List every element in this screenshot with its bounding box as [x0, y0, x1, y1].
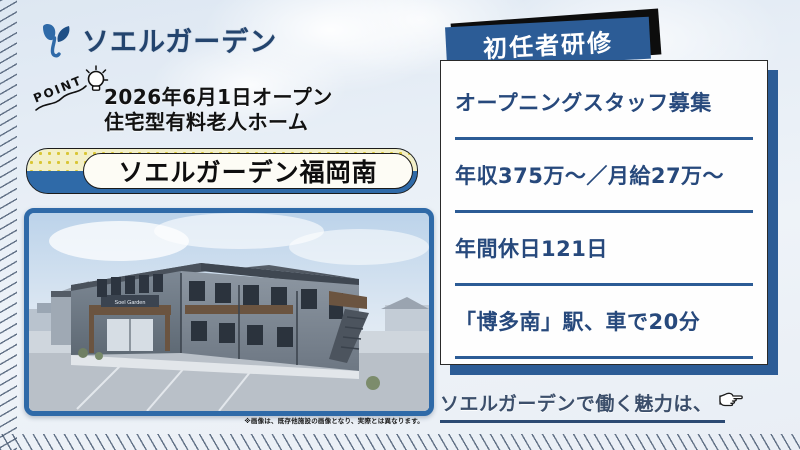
info-row-text: 年間休日121日 — [455, 233, 608, 263]
opening-headline: 2026年6月1日オープン 住宅型有料老人ホーム — [104, 85, 404, 135]
tagline-underline — [440, 420, 725, 423]
pill-inner-panel: ソエルガーデン福岡南 — [83, 153, 413, 189]
job-info-card: オープニングスタッフ募集 年収375万～／月給27万～ 年間休日121日 「博多… — [440, 60, 768, 365]
facility-name: ソエルガーデン福岡南 — [118, 153, 377, 189]
info-row-text: 年収375万～／月給27万～ — [455, 160, 724, 190]
hatch-left-border — [0, 0, 17, 450]
info-row-salary: 年収375万～／月給27万～ — [455, 140, 753, 213]
qualification-badge-label: 初任者研修 — [482, 22, 614, 64]
advertisement-canvas: ソエルガーデン POINT 2026年6月1日オープン 住宅型有料老人ホーム ソ… — [0, 0, 800, 450]
bottom-tagline: ソエルガーデンで働く魅力は、 — [440, 388, 770, 423]
headline-line-2: 住宅型有料老人ホーム — [104, 110, 404, 135]
sprout-leaf-icon — [38, 21, 74, 59]
info-row-text: 「博多南」駅、車で20分 — [455, 306, 700, 336]
info-row-staff: オープニングスタッフ募集 — [455, 67, 753, 140]
photo-disclaimer-caption: ※画像は、既存他施設の画像となり、実際とは異なります。 — [24, 415, 424, 425]
brand-logo: ソエルガーデン — [38, 20, 277, 59]
info-row-access: 「博多南」駅、車で20分 — [455, 286, 753, 359]
svg-text:Soel Garden: Soel Garden — [115, 300, 146, 306]
facility-name-pill: ソエルガーデン福岡南 — [26, 148, 418, 194]
hatch-bottom-border — [0, 434, 800, 450]
facility-exterior-photo: Soel Garden — [24, 208, 434, 416]
headline-line-1: 2026年6月1日オープン — [104, 85, 404, 110]
pointing-hand-right-icon — [716, 388, 746, 417]
brand-name: ソエルガーデン — [82, 20, 277, 59]
info-row-text: オープニングスタッフ募集 — [455, 87, 712, 117]
info-row-holidays: 年間休日121日 — [455, 213, 753, 286]
tagline-text: ソエルガーデンで働く魅力は、 — [440, 389, 712, 416]
